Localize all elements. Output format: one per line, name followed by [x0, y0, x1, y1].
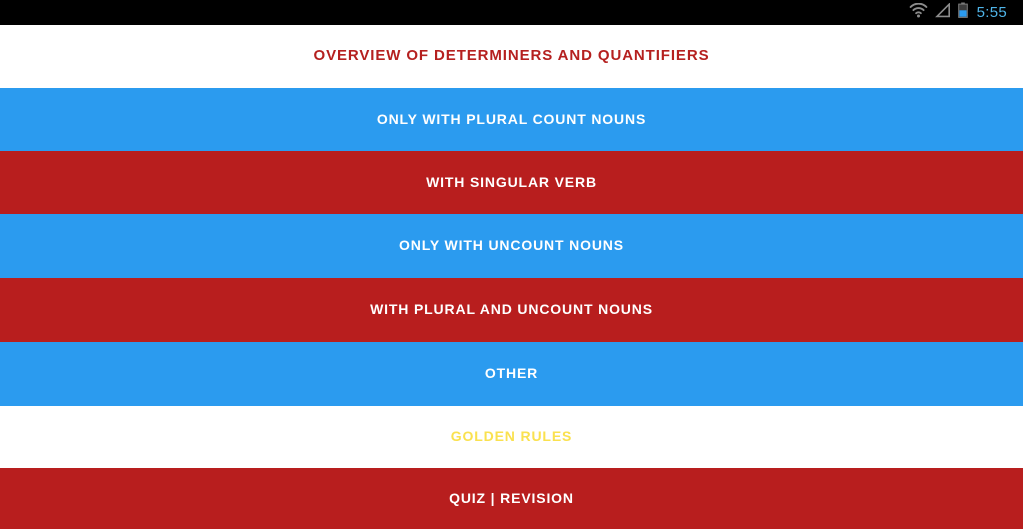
menu-item-label: GOLDEN RULES: [451, 429, 572, 444]
signal-icon: [935, 3, 951, 23]
menu-item-label: WITH PLURAL AND UNCOUNT NOUNS: [370, 302, 653, 317]
page-title-label: OVERVIEW OF DETERMINERS AND QUANTIFIERS: [314, 48, 710, 65]
wifi-icon: [909, 3, 928, 23]
menu-item-with-singular-verb[interactable]: WITH SINGULAR VERB: [0, 151, 1023, 214]
menu-item-label: ONLY WITH UNCOUNT NOUNS: [399, 238, 624, 253]
menu-item-label: OTHER: [485, 366, 538, 381]
menu-item-label: ONLY WITH PLURAL COUNT NOUNS: [377, 112, 646, 127]
status-bar: 5:55: [0, 0, 1023, 25]
menu-item-golden-rules[interactable]: GOLDEN RULES: [0, 406, 1023, 468]
menu-item-with-plural-and-uncount-nouns[interactable]: WITH PLURAL AND UNCOUNT NOUNS: [0, 278, 1023, 342]
app-screen: 5:55 OVERVIEW OF DETERMINERS AND QUANTIF…: [0, 0, 1023, 532]
battery-icon: [958, 2, 968, 23]
menu-item-label: WITH SINGULAR VERB: [426, 175, 597, 190]
menu-item-label: QUIZ | REVISION: [449, 491, 574, 506]
status-bar-clock: 5:55: [977, 4, 1007, 21]
menu-list: OVERVIEW OF DETERMINERS AND QUANTIFIERS …: [0, 25, 1023, 532]
menu-item-quiz-revision[interactable]: QUIZ | REVISION: [0, 468, 1023, 529]
menu-item-only-with-uncount-nouns[interactable]: ONLY WITH UNCOUNT NOUNS: [0, 214, 1023, 278]
menu-item-other[interactable]: OTHER: [0, 342, 1023, 406]
status-bar-icons: [909, 2, 968, 23]
menu-item-only-with-plural-count-nouns[interactable]: ONLY WITH PLURAL COUNT NOUNS: [0, 88, 1023, 151]
page-title: OVERVIEW OF DETERMINERS AND QUANTIFIERS: [0, 25, 1023, 88]
